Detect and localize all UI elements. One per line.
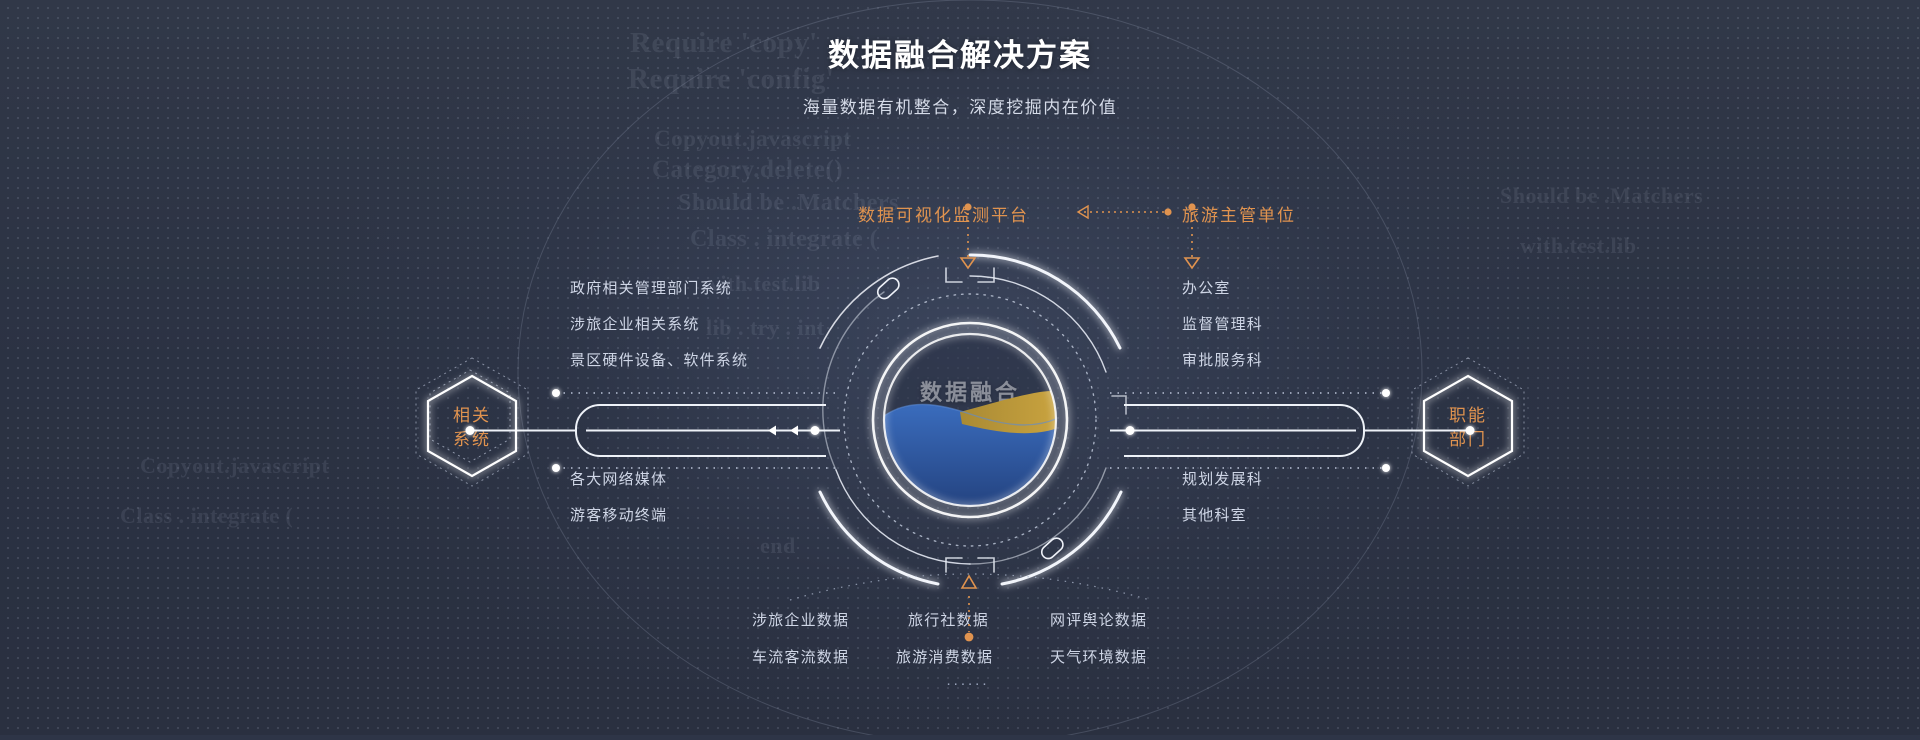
bottom-connector [790, 574, 1150, 641]
hexagon-solid [1424, 376, 1512, 476]
arrow-down-authority [1185, 258, 1199, 268]
page-subtitle: 海量数据有机整合，深度挖掘内在价值 [0, 93, 1920, 118]
dot-marker [1164, 208, 1171, 215]
core-sphere [884, 334, 1058, 512]
hexagon-solid [428, 376, 516, 476]
dot-marker [964, 203, 971, 210]
page-title: 数据融合解决方案 [0, 30, 1920, 75]
ring-node-capsule [1039, 536, 1066, 562]
dot-marker [1188, 203, 1195, 210]
left-connector [466, 389, 841, 472]
dot-marker [965, 633, 974, 642]
right-hexagon-node[interactable] [1412, 358, 1524, 486]
arrow-up-bottom [962, 576, 976, 588]
header: 数据融合解决方案 海量数据有机整合，深度挖掘内在价值 [0, 30, 1920, 118]
hexagon-outer-dashed [430, 370, 510, 462]
right-connector [1110, 389, 1475, 472]
left-hexagon-node[interactable] [416, 358, 528, 486]
arrow-down-platform [961, 258, 975, 268]
